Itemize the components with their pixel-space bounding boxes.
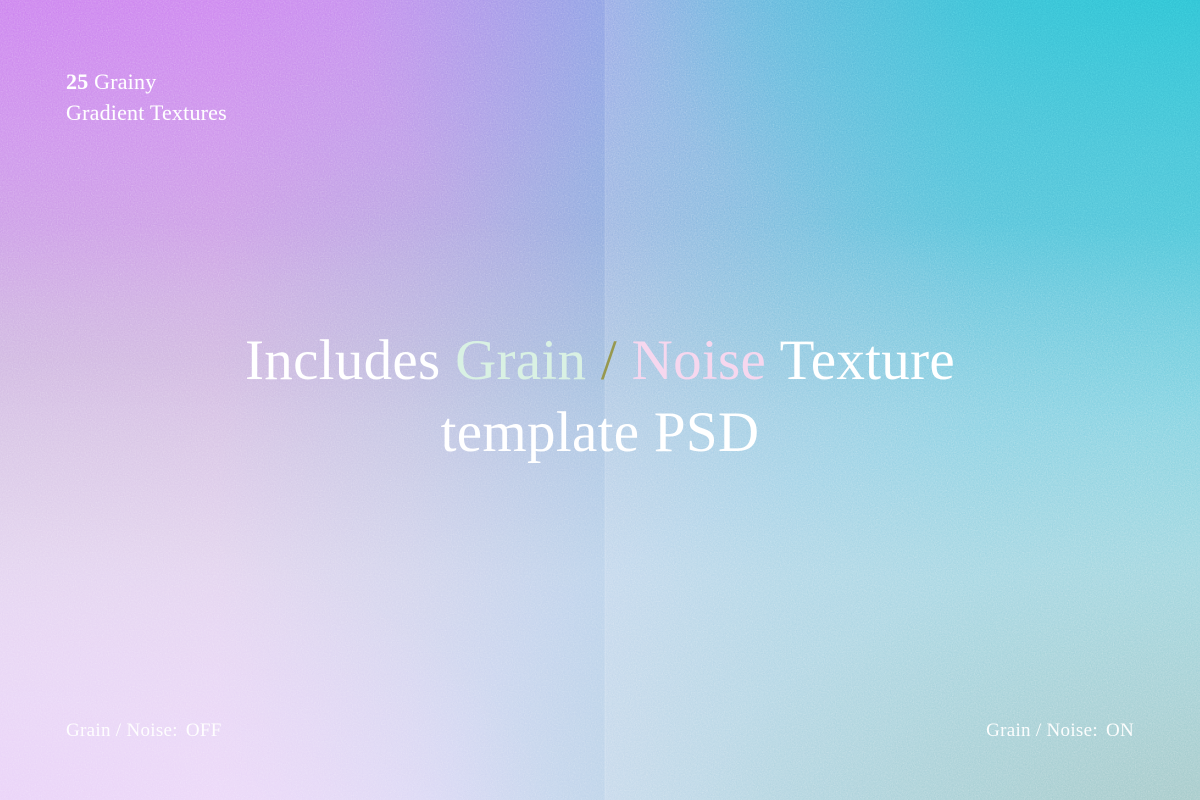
footer-left-label: Grain / Noise: xyxy=(66,720,178,741)
headline: Includes Grain / Noise Texture template … xyxy=(0,332,1200,462)
headline-word-slash: / xyxy=(601,329,617,392)
headline-word-texture: Texture xyxy=(780,329,955,392)
footer-grain-on: Grain / Noise:ON xyxy=(986,720,1134,742)
headline-line-2: template PSD xyxy=(0,404,1200,462)
poster-canvas: 25 Grainy Gradient Textures Includes Gra… xyxy=(0,0,1200,800)
footer-left-state: OFF xyxy=(186,720,222,741)
corner-heading-line-1-rest: Grainy xyxy=(88,69,156,94)
corner-heading-line-2: Gradient Textures xyxy=(66,97,227,128)
footer-right-label: Grain / Noise: xyxy=(986,720,1098,741)
footer-grain-off: Grain / Noise:OFF xyxy=(66,720,222,742)
corner-heading-line-1: 25 Grainy xyxy=(66,66,227,97)
headline-word-grain: Grain xyxy=(455,329,586,392)
texture-count: 25 xyxy=(66,69,88,94)
headline-word-noise: Noise xyxy=(632,329,766,392)
headline-word-includes: Includes xyxy=(245,329,441,392)
footer-right-state: ON xyxy=(1106,720,1134,741)
headline-line-1: Includes Grain / Noise Texture xyxy=(0,332,1200,390)
corner-heading: 25 Grainy Gradient Textures xyxy=(66,66,227,128)
